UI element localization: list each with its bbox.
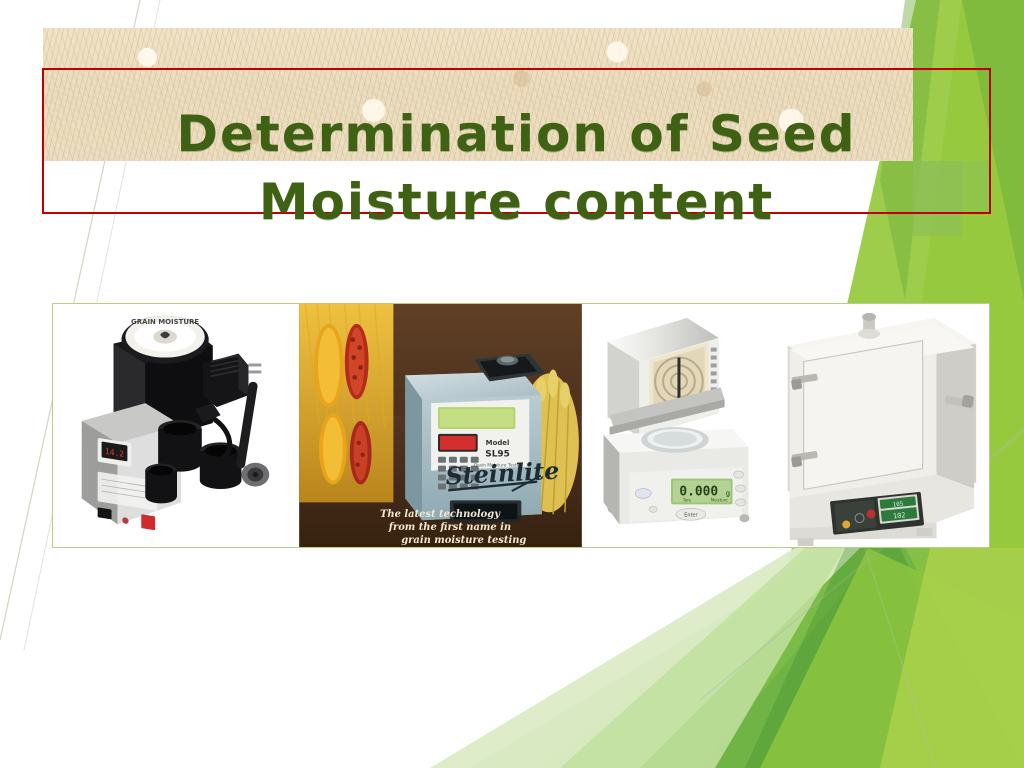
svg-text:Enter: Enter — [684, 512, 698, 518]
svg-text:Model: Model — [486, 439, 510, 447]
photo-steinlite-grain-moisture-tester: Steinlite grain moisture tester on woode… — [298, 304, 583, 547]
page-title: Determination of Seed Moisture content — [42, 100, 991, 236]
svg-text:GRAIN MOISTURE: GRAIN MOISTURE — [131, 318, 199, 326]
svg-text:102: 102 — [893, 511, 906, 520]
svg-text:Moisture: Moisture — [711, 497, 729, 502]
photo-hot-air-drying-oven: Laboratory hot air drying oven with latc… — [767, 304, 989, 547]
svg-text:105: 105 — [892, 500, 904, 508]
photo-halogen-moisture-analyzer-balance: Halogen moisture analyzer balance with o… — [583, 304, 767, 547]
svg-text:Tare: Tare — [682, 497, 692, 502]
slide: Determination of Seed Moisture content P… — [0, 0, 1024, 768]
photo-strip: Portable grain moisture meter with dial … — [52, 303, 990, 548]
svg-text:from the first name in: from the first name in — [388, 522, 511, 533]
svg-text:g: g — [726, 489, 730, 497]
photo-grain-moisture-meter-kit: Portable grain moisture meter with dial … — [53, 304, 298, 547]
svg-text:grain moisture testing: grain moisture testing — [401, 535, 526, 546]
svg-text:SL95: SL95 — [485, 450, 509, 460]
svg-text:The latest technology: The latest technology — [380, 509, 501, 520]
